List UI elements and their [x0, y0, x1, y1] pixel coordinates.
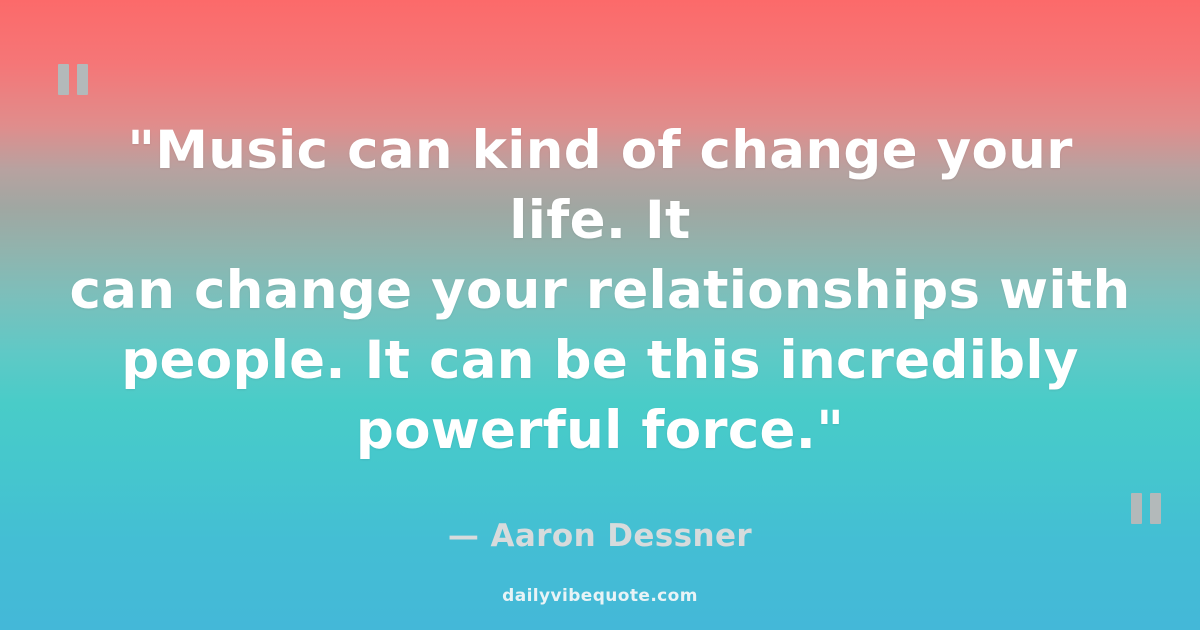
quote-text: "Music can kind of change your life. It … [60, 116, 1140, 466]
quote-line: can change your relationships with [60, 256, 1140, 326]
quote-content: "Music can kind of change your life. It … [0, 0, 1200, 630]
site-watermark: dailyvibequote.com [0, 586, 1200, 606]
quote-line: "Music can kind of change your life. It [60, 116, 1140, 256]
quote-line: powerful force." [60, 396, 1140, 466]
quote-card: "Music can kind of change your life. It … [0, 0, 1200, 630]
quote-attribution: — Aaron Dessner [448, 518, 752, 554]
quote-line: people. It can be this incredibly [60, 326, 1140, 396]
